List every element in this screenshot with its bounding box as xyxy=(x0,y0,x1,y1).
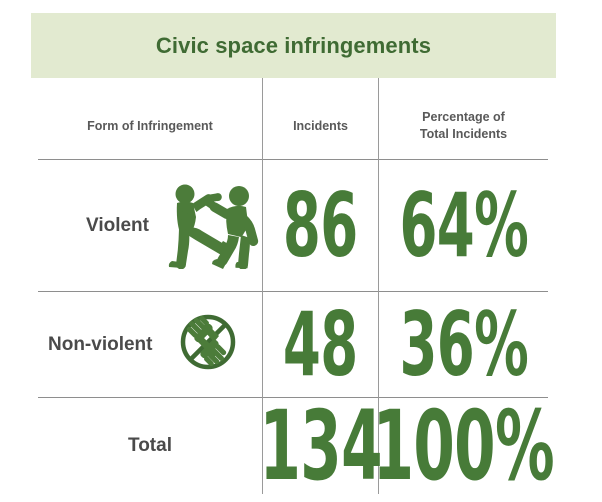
value-percentage-nonviolent: 36% xyxy=(399,293,528,396)
row-label-total: Total xyxy=(128,435,172,457)
no-violence-crossed-hands-icon xyxy=(177,311,239,378)
column-header-percentage-line2: Total Incidents xyxy=(420,127,507,141)
value-percentage-total: 100% xyxy=(373,390,554,502)
value-incidents-total: 134 xyxy=(259,390,381,502)
cell-percentage-nonviolent: 36% xyxy=(379,292,548,397)
cell-incidents-total: 134 xyxy=(263,398,378,494)
violent-kick-icon xyxy=(163,177,263,274)
page-title: Civic space infringements xyxy=(156,33,431,59)
column-header-percentage-of-total-incidents: Percentage of Total Incidents xyxy=(379,95,548,157)
civic-space-infringements-infographic: Civic space infringements Form of Infrin… xyxy=(0,0,602,494)
row-label-nonviolent: Non-violent xyxy=(48,334,153,356)
column-header-form-label: Form of Infringement xyxy=(87,118,213,135)
row-label-violent: Violent xyxy=(86,215,149,237)
value-incidents-nonviolent: 48 xyxy=(283,293,358,396)
cell-incidents-nonviolent: 48 xyxy=(263,292,378,397)
value-percentage-violent: 64% xyxy=(399,174,528,277)
cell-percentage-total: 100% xyxy=(379,398,548,494)
table-row-nonviolent-label-cell: Non-violent xyxy=(38,292,262,397)
column-header-incidents: Incidents xyxy=(263,95,378,157)
value-incidents-violent: 86 xyxy=(283,174,358,277)
column-header-incidents-label: Incidents xyxy=(293,118,348,135)
cell-percentage-violent: 64% xyxy=(379,160,548,291)
column-header-form-of-infringement: Form of Infringement xyxy=(38,95,262,157)
table-row-violent-label-cell: Violent xyxy=(38,160,262,291)
column-header-percentage-line1: Percentage of xyxy=(422,110,505,124)
column-header-percentage-label: Percentage of Total Incidents xyxy=(420,109,507,143)
table-row-total-label-cell: Total xyxy=(38,398,262,494)
title-banner: Civic space infringements xyxy=(31,13,556,78)
cell-incidents-violent: 86 xyxy=(263,160,378,291)
